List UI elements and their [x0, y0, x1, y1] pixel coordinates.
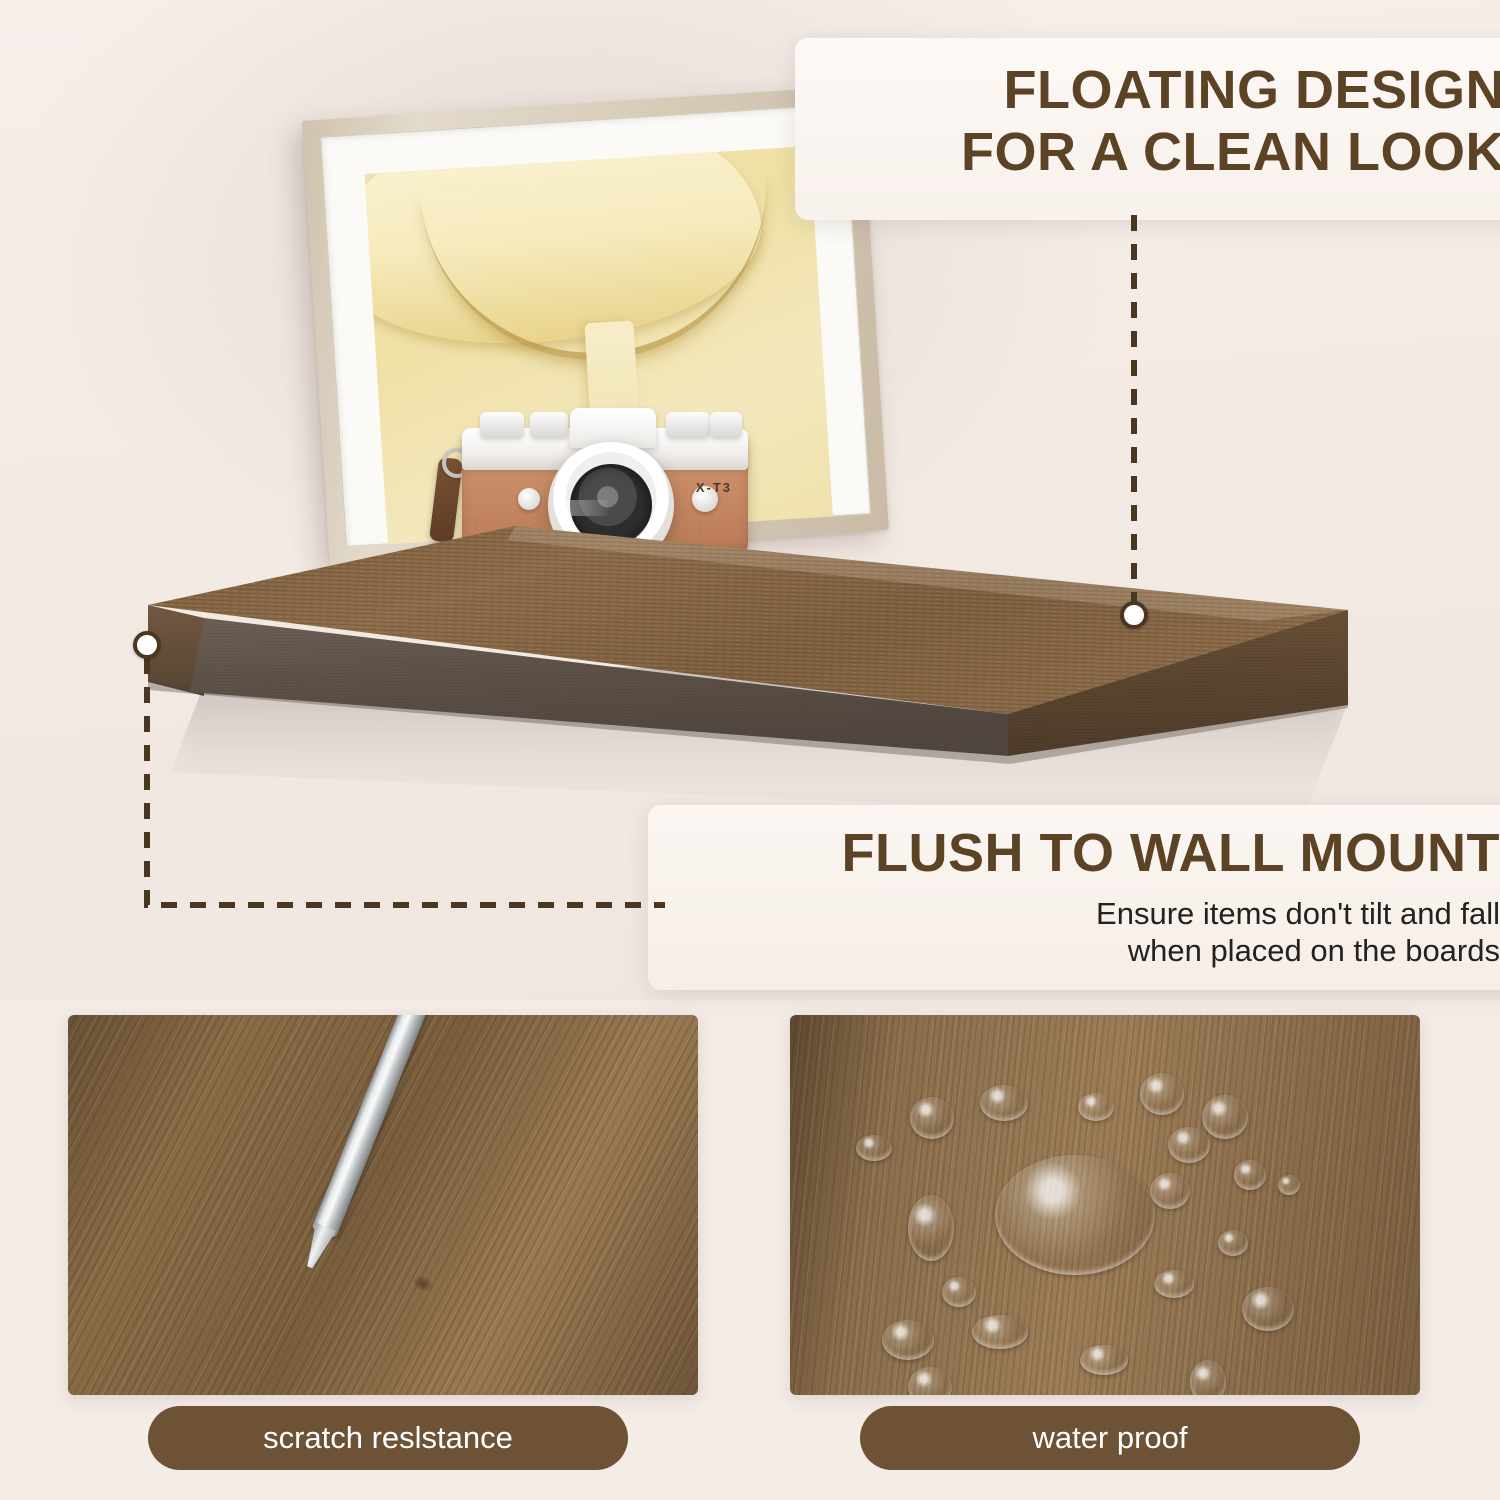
- water-droplet: [882, 1320, 934, 1360]
- feature-image-water: [790, 1015, 1420, 1395]
- water-droplet: [908, 1195, 954, 1261]
- water-droplet: [995, 1155, 1155, 1275]
- water-droplet: [980, 1085, 1028, 1121]
- artwork-arc-shape: [419, 171, 777, 370]
- water-droplet: [1140, 1073, 1184, 1115]
- camera-dial: [480, 412, 524, 438]
- water-droplet: [1278, 1175, 1300, 1195]
- water-droplet: [910, 1097, 954, 1139]
- callout-title-line-1: FLOATING DESIGN: [795, 60, 1500, 122]
- callout-title-flush: FLUSH TO WALL MOUNT: [648, 823, 1500, 885]
- feature-cards-row: scratch reslstance water proof: [0, 1000, 1500, 1500]
- feature-label-text: scratch reslstance: [263, 1420, 513, 1456]
- connector-line-flush: [120, 640, 680, 930]
- feature-label-scratch: scratch reslstance: [148, 1406, 628, 1470]
- camera-model-badge: X-T3: [696, 480, 732, 495]
- screwdriver-tip: [299, 1222, 336, 1271]
- camera-dial: [666, 412, 710, 438]
- callout-floating-design: FLOATING DESIGN FOR A CLEAN LOOK: [795, 38, 1500, 220]
- water-droplet: [1202, 1095, 1248, 1139]
- callout-flush-mount: FLUSH TO WALL MOUNT Ensure items don't t…: [648, 805, 1500, 990]
- callout-subtitle-line-2: when placed on the boards: [648, 932, 1500, 969]
- callout-dot-floating: [1120, 601, 1148, 629]
- water-droplet: [1154, 1270, 1194, 1298]
- water-droplet: [1080, 1345, 1128, 1375]
- water-droplet: [1168, 1127, 1210, 1163]
- water-droplet: [1078, 1093, 1114, 1121]
- feature-image-scratch: [68, 1015, 698, 1395]
- infographic-root: X-T3: [0, 0, 1500, 1500]
- water-droplet: [1242, 1287, 1294, 1331]
- feature-label-water: water proof: [860, 1406, 1360, 1470]
- connector-line-floating: [1060, 215, 1220, 635]
- feature-label-text: water proof: [1032, 1420, 1187, 1456]
- water-droplet: [856, 1135, 892, 1161]
- camera-dial: [530, 412, 568, 438]
- water-droplet: [1218, 1230, 1248, 1256]
- water-droplet: [1234, 1160, 1266, 1190]
- water-droplet: [972, 1315, 1028, 1349]
- water-droplet: [942, 1277, 976, 1307]
- camera-dial: [710, 412, 742, 438]
- callout-title-line-2: FOR A CLEAN LOOK: [795, 122, 1500, 184]
- water-droplet: [1150, 1173, 1190, 1209]
- callout-subtitle-line-1: Ensure items don't tilt and fall: [648, 895, 1500, 932]
- callout-dot-flush: [133, 631, 161, 659]
